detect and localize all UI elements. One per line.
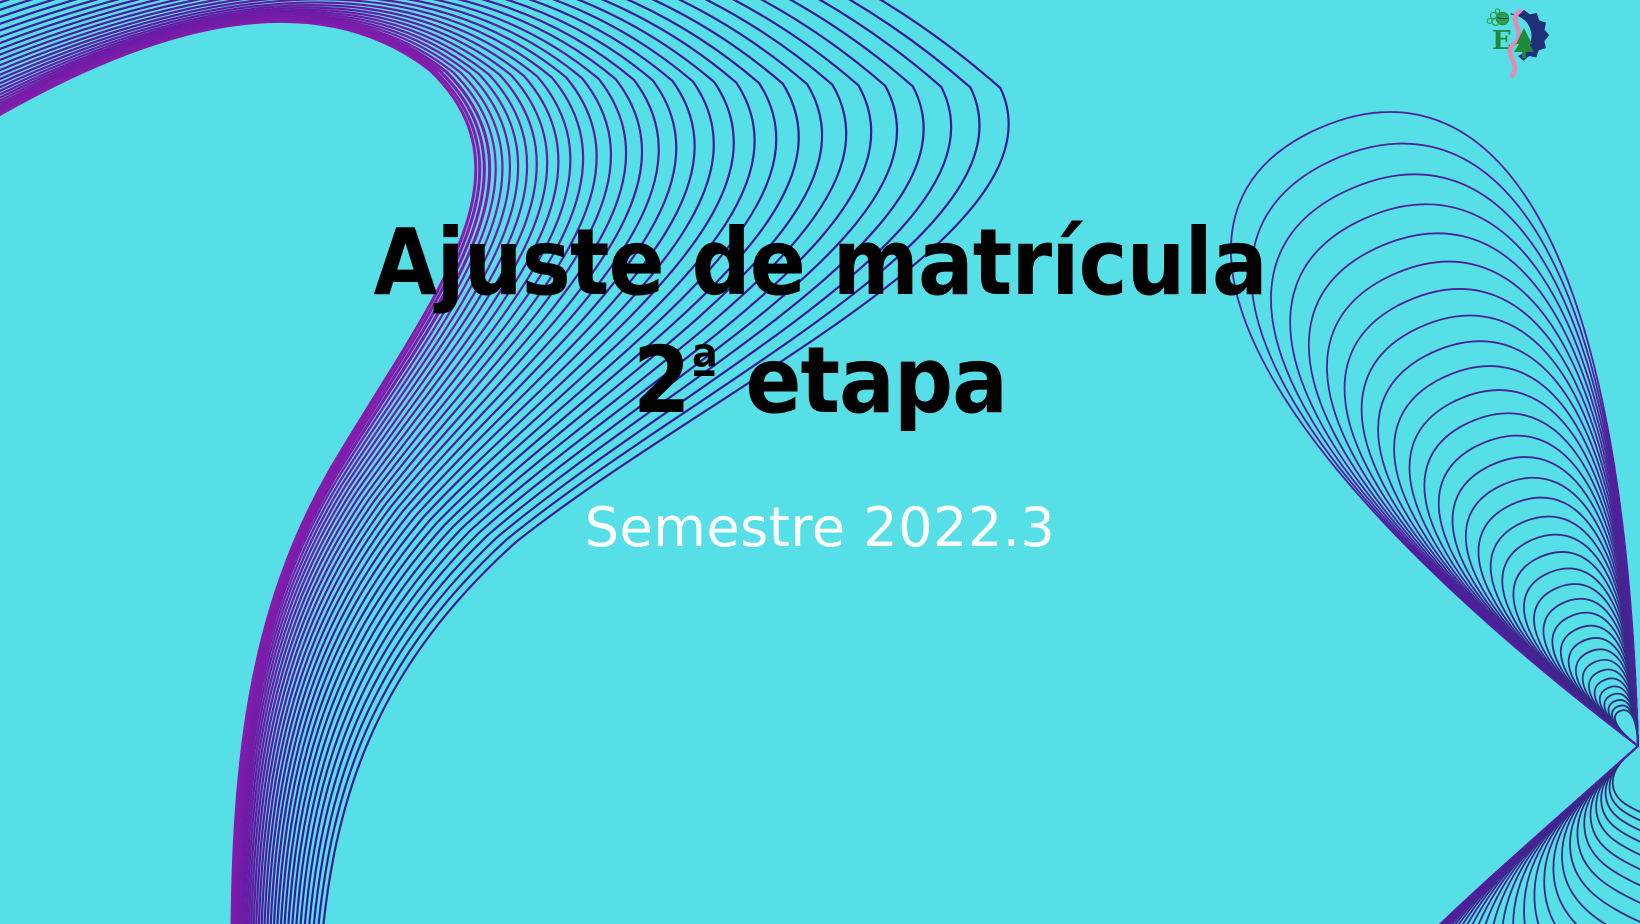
- title-ordinal-rest: etapa: [718, 327, 1007, 434]
- subtitle-block: Semestre 2022.3: [0, 496, 1640, 560]
- page-title-line-1: Ajuste de matrícula: [0, 204, 1640, 322]
- slide-canvas: Ajuste de matrícula 2ª etapa Semestre 20…: [0, 0, 1640, 924]
- page-subtitle: Semestre 2022.3: [0, 496, 1640, 560]
- page-title-line-2: 2ª etapa: [0, 322, 1640, 440]
- title-ordinal-number: 2: [633, 327, 690, 434]
- institution-logo-icon: E: [1476, 6, 1568, 94]
- title-block: Ajuste de matrícula 2ª etapa: [0, 204, 1640, 440]
- globe-molecule-icon: [1487, 9, 1509, 26]
- title-ordinal-mark: ª: [690, 334, 718, 400]
- slide-content: Ajuste de matrícula 2ª etapa Semestre 20…: [0, 0, 1640, 924]
